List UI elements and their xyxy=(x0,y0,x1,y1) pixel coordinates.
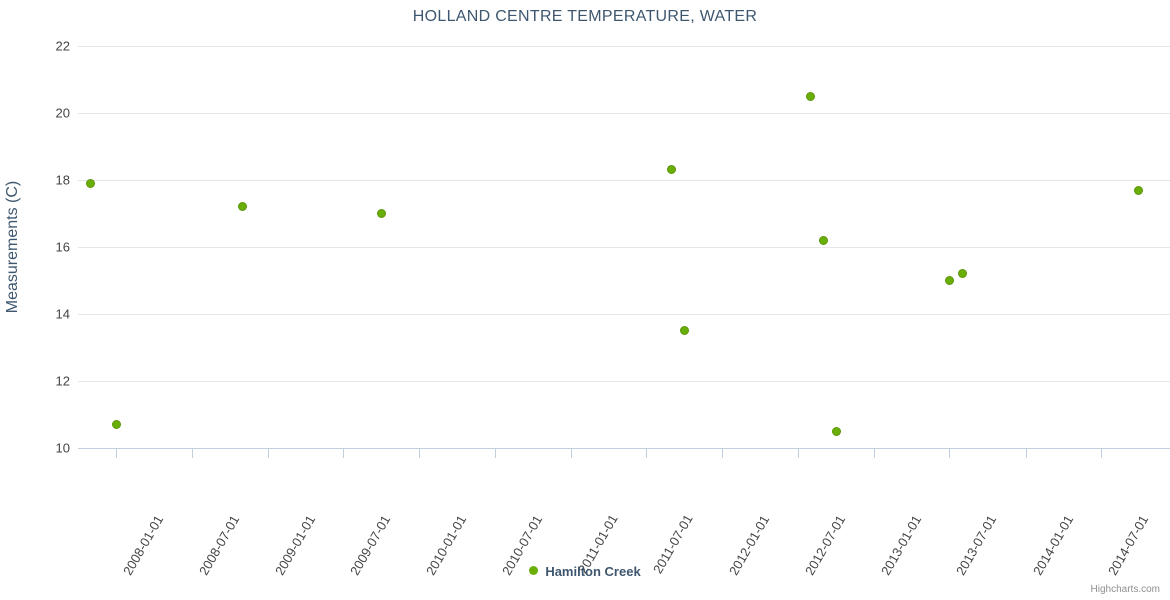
data-point-marker[interactable] xyxy=(832,427,841,436)
x-tick-label: 2011-01-01 xyxy=(604,462,650,526)
y-gridline xyxy=(78,381,1170,382)
legend-item-hamilton-creek[interactable]: Hamilton Creek xyxy=(529,563,640,579)
data-point-marker[interactable] xyxy=(667,165,676,174)
y-gridline xyxy=(78,314,1170,315)
y-tick-label: 22 xyxy=(10,39,70,54)
x-tick-mark xyxy=(571,449,572,458)
x-tick-mark xyxy=(192,449,193,458)
legend-marker-icon xyxy=(529,566,538,575)
x-tick-label: 2008-01-01 xyxy=(149,462,195,527)
x-tick-mark xyxy=(874,449,875,458)
data-point-marker[interactable] xyxy=(112,420,121,429)
x-axis-line xyxy=(78,448,1170,449)
y-gridline xyxy=(78,247,1170,248)
data-point-marker[interactable] xyxy=(1134,186,1143,195)
x-tick-label: 2010-07-01 xyxy=(528,462,574,527)
x-tick-label: 2010-01-01 xyxy=(453,462,499,527)
y-tick-label: 14 xyxy=(10,307,70,322)
x-tick-mark xyxy=(495,449,496,458)
data-point-marker[interactable] xyxy=(819,236,828,245)
x-tick-mark xyxy=(1101,449,1102,458)
x-tick-label: 2014-07-01 xyxy=(1134,462,1170,527)
y-tick-label: 10 xyxy=(10,441,70,456)
x-tick-label: 2013-01-01 xyxy=(907,462,953,527)
data-point-marker[interactable] xyxy=(377,209,386,218)
x-tick-label: 2014-01-01 xyxy=(1059,462,1105,527)
x-tick-label: 2012-07-01 xyxy=(831,462,877,527)
y-tick-label: 20 xyxy=(10,106,70,121)
y-tick-label: 18 xyxy=(10,173,70,188)
chart-container: HOLLAND CENTRE TEMPERATURE, WATER Measur… xyxy=(0,0,1170,600)
x-tick-label: 2009-01-01 xyxy=(301,462,347,527)
data-point-marker[interactable] xyxy=(958,269,967,278)
x-tick-label: 2013-07-01 xyxy=(983,462,1029,527)
x-tick-label: 2012-01-01 xyxy=(756,462,802,527)
x-tick-mark xyxy=(798,449,799,458)
x-tick-label: 2011-07-01 xyxy=(679,462,725,526)
y-tick-label: 12 xyxy=(10,374,70,389)
y-tick-label: 16 xyxy=(10,240,70,255)
chart-legend: Hamilton Creek xyxy=(0,563,1170,579)
y-gridline xyxy=(78,113,1170,114)
y-gridline xyxy=(78,46,1170,47)
x-tick-mark xyxy=(268,449,269,458)
x-tick-label: 2009-07-01 xyxy=(376,462,422,527)
x-tick-mark xyxy=(722,449,723,458)
x-tick-mark xyxy=(343,449,344,458)
data-point-marker[interactable] xyxy=(945,276,954,285)
data-point-marker[interactable] xyxy=(86,179,95,188)
y-gridline xyxy=(78,180,1170,181)
data-point-marker[interactable] xyxy=(238,202,247,211)
plot-area xyxy=(78,46,1170,448)
x-tick-mark xyxy=(419,449,420,458)
chart-title: HOLLAND CENTRE TEMPERATURE, WATER xyxy=(0,8,1170,26)
x-tick-mark xyxy=(646,449,647,458)
y-axis-ticks: 10121416182022 xyxy=(0,0,70,600)
x-tick-mark xyxy=(1026,449,1027,458)
x-tick-label: 2008-07-01 xyxy=(225,462,271,527)
data-point-marker[interactable] xyxy=(806,92,815,101)
data-point-marker[interactable] xyxy=(680,326,689,335)
x-tick-mark xyxy=(949,449,950,458)
highcharts-credit-link[interactable]: Highcharts.com xyxy=(1091,584,1160,595)
legend-item-label: Hamilton Creek xyxy=(545,564,640,579)
x-tick-mark xyxy=(116,449,117,458)
